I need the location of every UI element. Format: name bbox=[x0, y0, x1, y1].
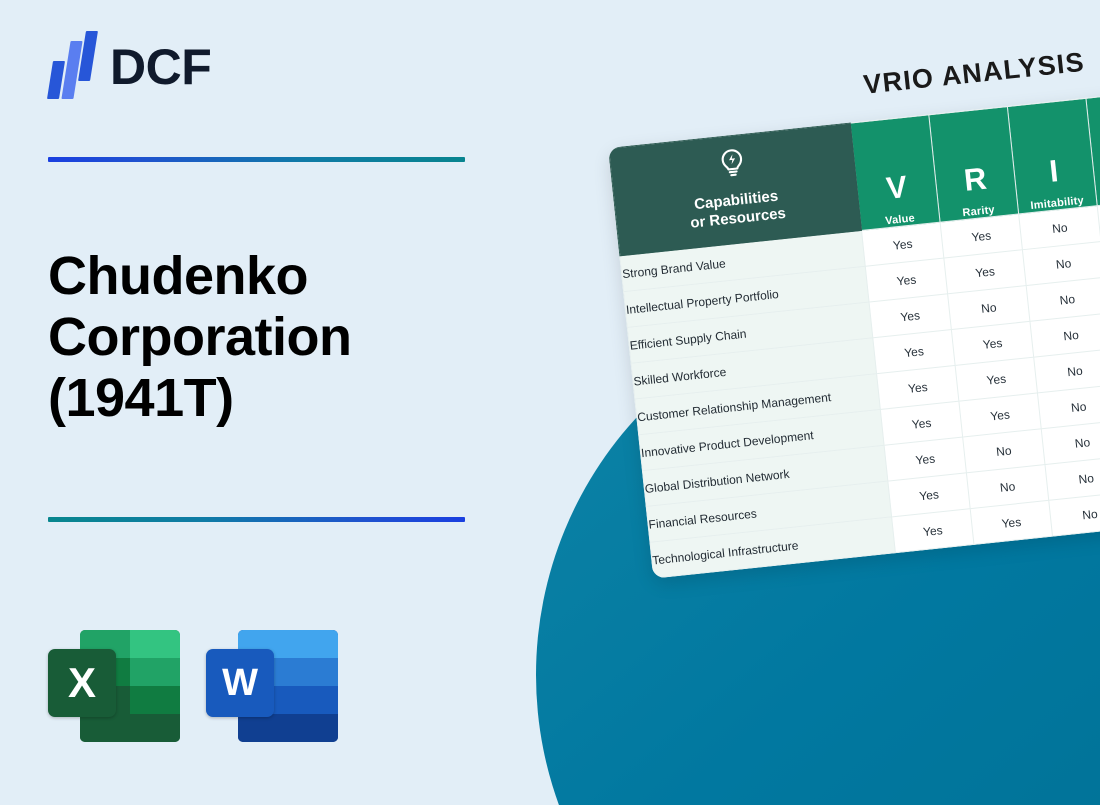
column-label-organization: Org bbox=[1096, 185, 1100, 205]
logo-wordmark: DCF bbox=[110, 42, 211, 92]
column-letter-r: R bbox=[935, 160, 1016, 199]
capabilities-header-label: Capabilities or Resources bbox=[690, 187, 787, 232]
vrio-analysis-heading: VRIO ANALYSIS bbox=[862, 47, 1086, 101]
excel-letter-badge: X bbox=[48, 649, 116, 717]
dcf-bars-icon bbox=[48, 33, 96, 101]
cell-value: Yes bbox=[892, 509, 974, 553]
lightbulb-idea-icon bbox=[624, 135, 841, 194]
word-letter-badge: W bbox=[206, 649, 274, 717]
vrio-table-container: Capabilities or Resources V Value R Rari… bbox=[608, 89, 1100, 578]
column-header-rarity: R Rarity bbox=[929, 107, 1019, 223]
page-title: Chudenko Corporation (1941T) bbox=[48, 246, 488, 429]
column-letter-v: V bbox=[856, 168, 937, 207]
vrio-table: Capabilities or Resources V Value R Rari… bbox=[608, 89, 1100, 578]
divider-bottom bbox=[48, 517, 465, 522]
word-file-icon[interactable]: W bbox=[206, 624, 338, 742]
cell-imitability: No bbox=[1041, 420, 1100, 464]
cell-imitability: No bbox=[1037, 385, 1100, 429]
column-letter-o: O bbox=[1092, 143, 1100, 182]
column-header-value: V Value bbox=[850, 115, 940, 231]
column-letter-i: I bbox=[1013, 152, 1094, 191]
vrio-table-body: Strong Brand Value Yes Yes No Intellectu… bbox=[620, 197, 1100, 578]
column-header-imitability: I Imitability bbox=[1007, 98, 1097, 214]
cell-rarity: Yes bbox=[970, 500, 1052, 544]
cell-imitability: No bbox=[1045, 456, 1100, 500]
download-format-icons: X W bbox=[48, 624, 338, 742]
divider-top bbox=[48, 157, 465, 162]
excel-file-icon[interactable]: X bbox=[48, 624, 180, 742]
dcf-logo[interactable]: DCF bbox=[48, 33, 211, 101]
left-info-panel: DCF Chudenko Corporation (1941T) X W bbox=[0, 0, 536, 805]
cell-imitability: No bbox=[1049, 492, 1100, 536]
poster-canvas: DCF Chudenko Corporation (1941T) X W VRI… bbox=[0, 0, 1100, 805]
